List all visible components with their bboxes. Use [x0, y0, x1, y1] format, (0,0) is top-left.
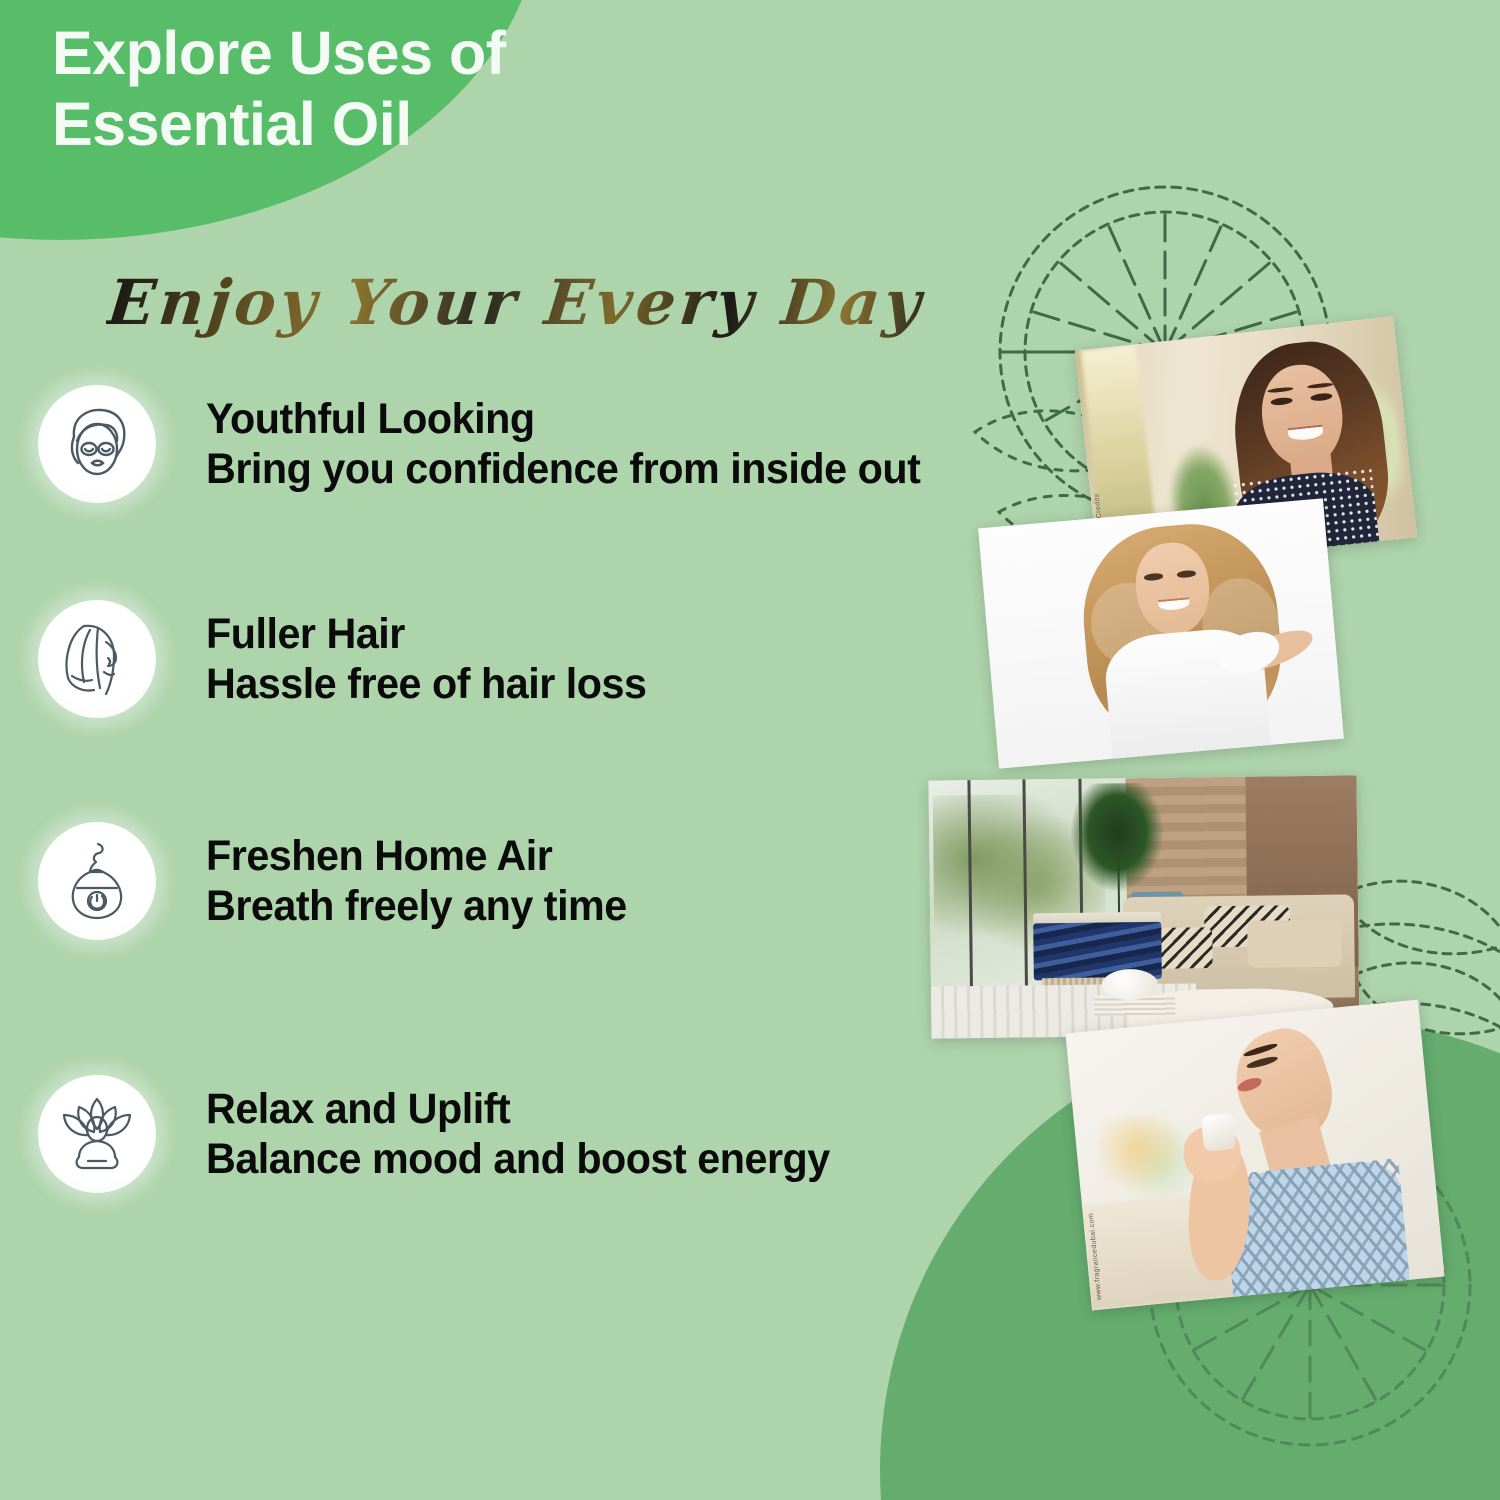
- tagline: Enjoy Your Every Day: [104, 266, 928, 339]
- feature-text: Freshen Home Air Breath freely any time: [206, 831, 627, 932]
- feature-item-freshen-home-air[interactable]: Freshen Home Air Breath freely any time: [38, 822, 644, 940]
- photo-living-room-diffuser: [928, 775, 1359, 1038]
- feature-text: Youthful Looking Bring you confidence fr…: [206, 394, 920, 495]
- face-mask-icon: [38, 385, 156, 503]
- feature-text: Relax and Uplift Balance mood and boost …: [206, 1084, 830, 1185]
- photo-blonde-long-hair: [978, 498, 1344, 768]
- feature-item-relax-and-uplift[interactable]: Relax and Uplift Balance mood and boost …: [38, 1075, 856, 1193]
- lotus-meditation-icon: [38, 1075, 156, 1193]
- photo-woman-perfume: www.fragrancedubai.com: [1065, 1000, 1444, 1311]
- feature-item-youthful-looking[interactable]: Youthful Looking Bring you confidence fr…: [38, 385, 950, 503]
- diffuser-icon: [38, 822, 156, 940]
- long-hair-icon: [38, 600, 156, 718]
- infographic-canvas: Explore Uses of Essential Oil Enjoy Your…: [0, 0, 1500, 1500]
- feature-item-fuller-hair[interactable]: Fuller Hair Hassle free of hair loss: [38, 600, 665, 718]
- page-title: Explore Uses of Essential Oil: [52, 18, 506, 160]
- feature-text: Fuller Hair Hassle free of hair loss: [206, 609, 646, 710]
